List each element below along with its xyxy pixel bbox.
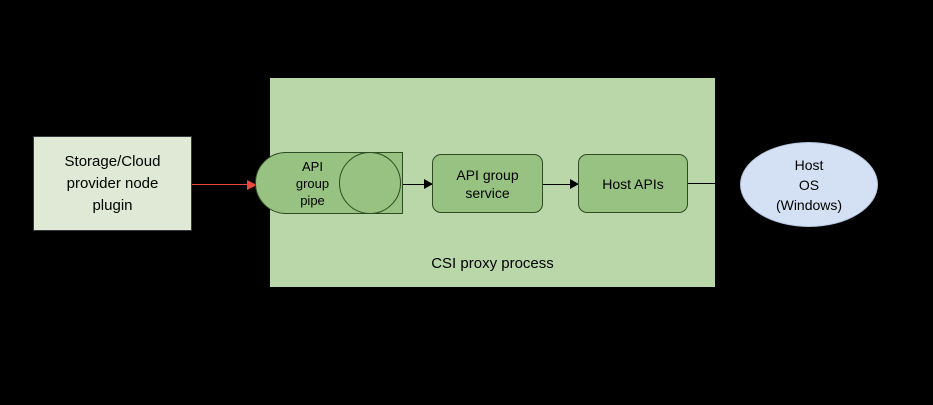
edge-node-plugin-to-pipe xyxy=(192,183,258,186)
edge-host-apis-to-host-os xyxy=(688,183,716,184)
host-apis-box[interactable]: Host APIs xyxy=(578,154,688,213)
edge-pipe-to-service xyxy=(403,183,432,185)
host-os-ellipse[interactable]: Host OS (Windows) xyxy=(740,142,878,227)
api-group-service-box[interactable]: API group service xyxy=(432,154,543,213)
csi-proxy-process-label: CSI proxy process xyxy=(270,255,715,273)
edge-shaft xyxy=(192,184,250,185)
edge-service-to-host-apis xyxy=(543,183,578,185)
storage-cloud-provider-node-plugin-box[interactable]: Storage/Cloud provider node plugin xyxy=(33,136,192,231)
api-group-pipe-node[interactable]: API group pipe xyxy=(255,152,403,214)
diagram-canvas: Storage/Cloud provider node plugin API g… xyxy=(0,0,933,405)
api-group-pipe-label: API group pipe xyxy=(255,152,370,214)
